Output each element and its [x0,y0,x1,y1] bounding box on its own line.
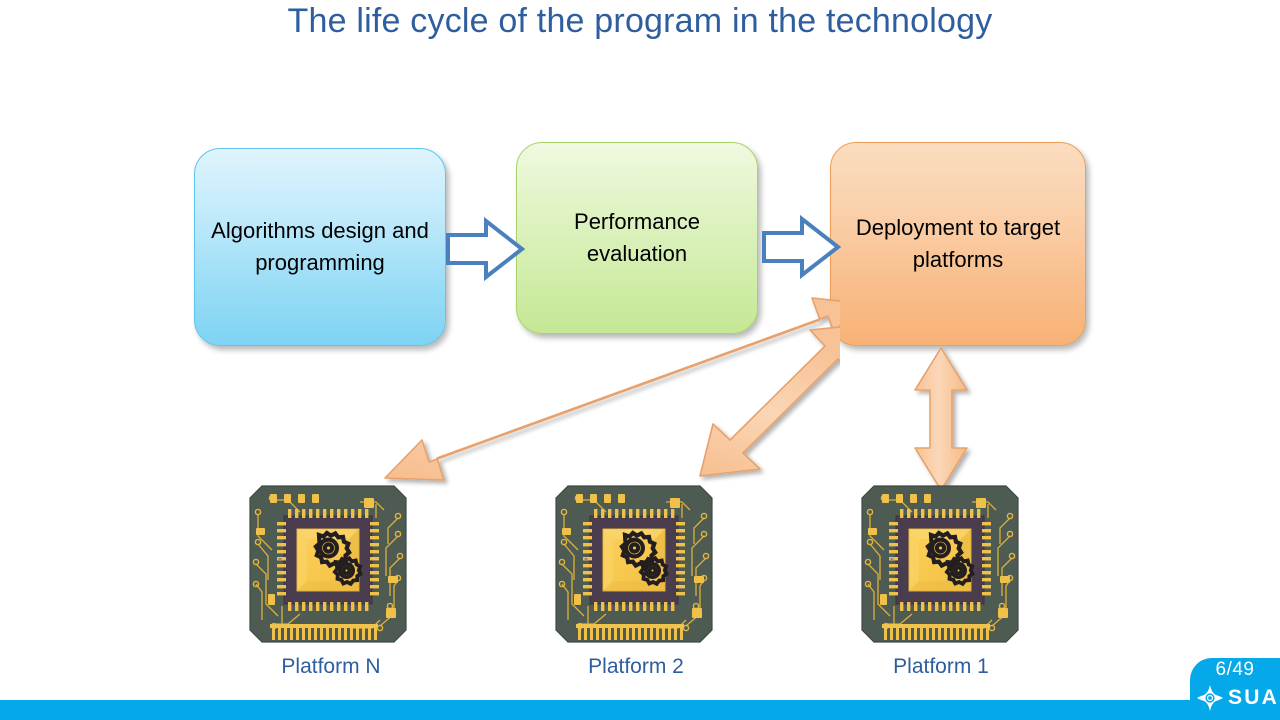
link-deployment-platform-2 [700,325,840,476]
process-box-deployment[interactable]: Deployment to target platforms [830,142,1086,346]
link-deployment-platform-1 [905,344,979,496]
microchip-gears-icon-platform-n[interactable] [248,484,408,644]
page-title: The life cycle of the program in the tec… [0,2,1280,41]
deployment-platform-arrow-group [370,290,840,510]
suai-four-point-star-icon [1196,684,1224,712]
footer-accent-bar [0,700,1280,720]
page-number: 6/49 [1190,659,1280,681]
brand-name: SUAI [1228,686,1280,710]
platform-label-2: Platform 2 [526,655,746,679]
footer-badge: 6/49 SUAI [1190,658,1280,720]
arrow-performance-to-deployment [760,214,844,280]
platform-label-n: Platform N [221,655,441,679]
microchip-gears-icon-platform-1[interactable] [860,484,1020,644]
platform-label-1: Platform 1 [831,655,1051,679]
slide-canvas: The life cycle of the program in the tec… [0,0,1280,720]
process-box-algorithms-label: Algorithms design and programming [195,215,445,279]
microchip-gears-icon-platform-2[interactable] [554,484,714,644]
arrow-algorithms-to-performance [444,216,528,282]
process-box-deployment-label: Deployment to target platforms [831,212,1085,276]
link-deployment-platform-n [385,298,840,480]
process-box-performance-label: Performance evaluation [517,206,757,270]
